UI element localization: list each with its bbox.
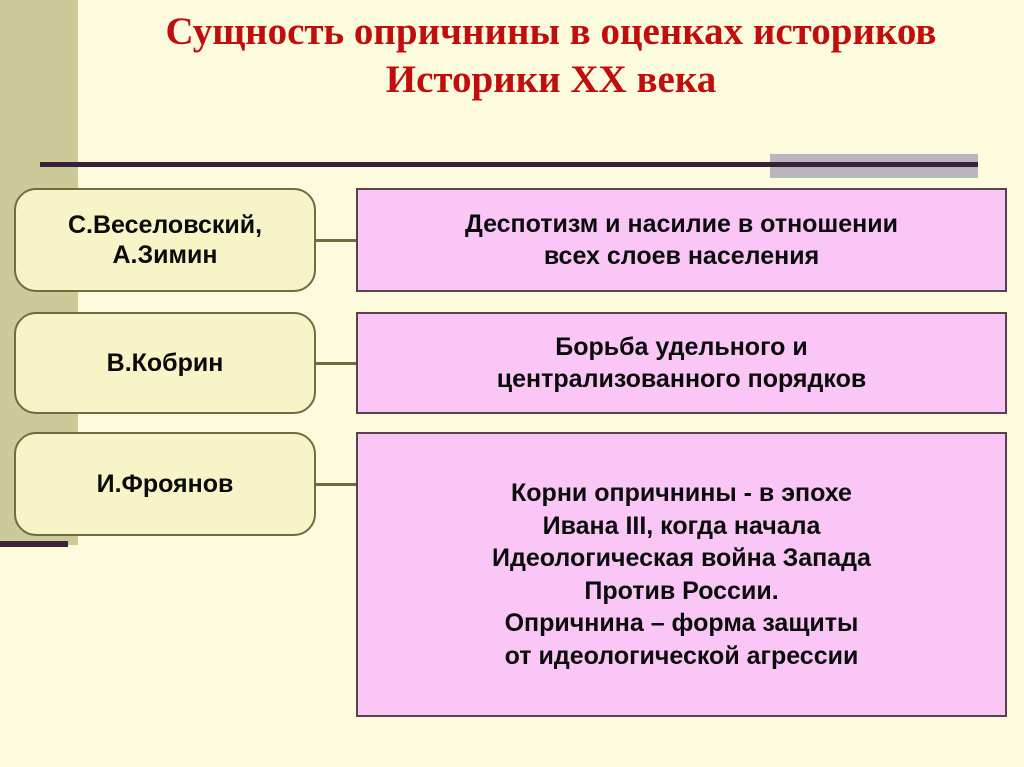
historian-view-box-2[interactable]: Борьба удельного и централизованного пор…	[356, 312, 1007, 414]
historian-view-line: Ивана III, когда начала	[492, 510, 871, 543]
historian-name-line: И.Фроянов	[97, 469, 234, 500]
historian-view-line: Против России.	[492, 575, 871, 608]
historian-name-line: А.Зимин	[68, 240, 262, 271]
connector-line-1	[314, 239, 358, 242]
connector-line-3	[314, 483, 358, 486]
historian-view-line: Корни опричнины - в эпохе	[492, 477, 871, 510]
historian-view-line: Идеологическая война Запада	[492, 542, 871, 575]
historian-view-line: централизованного порядков	[497, 363, 866, 396]
historian-name-line: В.Кобрин	[107, 348, 224, 379]
historian-view-line: от идеологической агрессии	[492, 640, 871, 673]
connector-line-2	[314, 362, 358, 365]
historian-view-line: Опричнина – форма защиты	[492, 607, 871, 640]
historian-view-line: всех слоев населения	[465, 240, 898, 273]
historian-view-box-1[interactable]: Деспотизм и насилие в отношении всех сло…	[356, 188, 1007, 292]
historian-name-box-2[interactable]: В.Кобрин	[14, 312, 316, 414]
historian-name-box-3[interactable]: И.Фроянов	[14, 432, 316, 536]
historian-view-box-3[interactable]: Корни опричнины - в эпохе Ивана III, ког…	[356, 432, 1007, 717]
historian-name-line: С.Веселовский,	[68, 210, 262, 241]
historian-name-box-1[interactable]: С.Веселовский, А.Зимин	[14, 188, 316, 292]
historian-view-line: Борьба удельного и	[497, 331, 866, 364]
historians-diagram: С.Веселовский, А.Зимин Деспотизм и насил…	[0, 0, 1024, 767]
historian-view-line: Деспотизм и насилие в отношении	[465, 208, 898, 241]
